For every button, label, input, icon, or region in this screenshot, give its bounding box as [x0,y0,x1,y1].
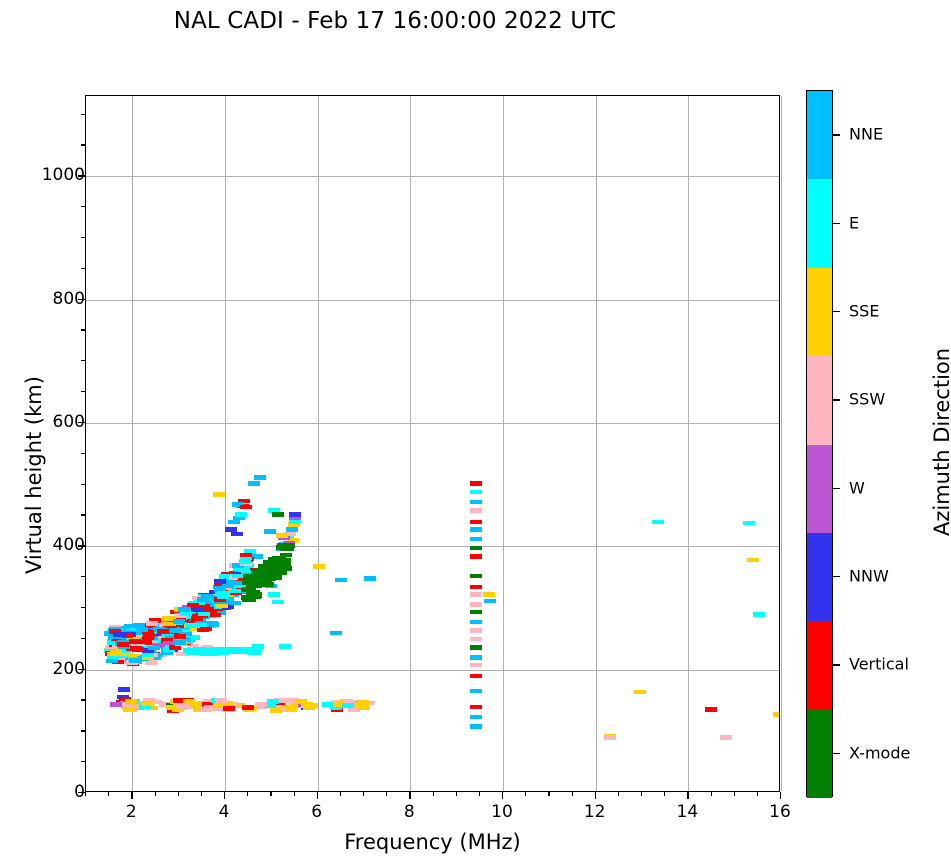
colorbar-tick-label: SSW [849,390,885,409]
x-tick-mark [317,792,318,799]
x-minor-tick [85,792,86,796]
colorbar-tick-label: NNE [849,125,883,144]
data-point [123,707,135,712]
y-tick-mark [78,175,85,176]
data-point [470,574,482,579]
data-point [470,520,482,525]
data-point [200,707,212,712]
colorbar-segment-vertical [807,621,832,709]
x-tick-label: 12 [565,802,625,822]
colorbar-tick-label: SSE [849,301,879,320]
data-point [604,735,616,740]
data-point [720,735,732,740]
data-point [141,701,153,706]
data-point [215,698,227,703]
data-point [246,594,260,599]
data-point [268,592,280,597]
colorbar-segment-ssw [807,356,832,444]
data-point [223,706,235,711]
data-point [277,543,291,548]
data-point [247,650,261,655]
colorbar-segment-w [807,445,832,533]
data-point [174,640,186,645]
data-point [470,674,482,679]
x-tick-label: 10 [472,802,532,822]
x-minor-tick [525,792,526,796]
x-tick-mark [687,792,688,799]
y-minor-tick [81,268,85,269]
data-point [286,527,298,532]
data-point [470,715,482,720]
data-point [289,520,301,525]
x-minor-tick [641,792,642,796]
data-point [209,613,221,618]
y-minor-tick [81,607,85,608]
x-minor-tick [757,792,758,796]
data-point [177,704,189,709]
data-point [249,581,263,586]
x-minor-tick [548,792,549,796]
colorbar-segment-nne [807,91,832,179]
y-minor-tick [81,730,85,731]
x-minor-tick [363,792,364,796]
x-tick-label: 16 [750,802,810,822]
colorbar-tick-label: E [849,213,859,232]
data-point [163,641,175,646]
data-point [634,690,646,695]
x-minor-tick [618,792,619,796]
x-tick-mark [502,792,503,799]
data-point [214,579,226,584]
x-minor-tick [734,792,735,796]
data-point [243,574,257,579]
y-minor-tick [81,453,85,454]
data-point [255,702,267,707]
y-minor-tick [81,329,85,330]
page-title: NAL CADI - Feb 17 16:00:00 2022 UTC [0,8,790,34]
data-point [470,620,482,625]
data-point [470,655,482,660]
data-point [313,564,325,569]
data-point [228,520,240,525]
data-point [330,631,342,636]
x-minor-tick [201,792,202,796]
data-point [470,637,482,642]
data-point [238,568,250,573]
data-point [470,500,482,505]
x-tick-mark [131,792,132,799]
x-tick-mark [595,792,596,799]
data-point [743,521,755,526]
colorbar-tick-mark [833,134,840,135]
colorbar-tick-mark [833,664,840,665]
data-point [235,512,247,517]
colorbar-segment-sse [807,268,832,356]
data-point [652,520,664,525]
data-point [229,601,241,606]
data-point [264,529,276,534]
data-point [142,653,154,658]
x-minor-tick [711,792,712,796]
data-point [303,705,315,710]
y-minor-tick [81,206,85,207]
data-point [358,705,370,710]
data-point [190,702,202,707]
x-minor-tick [386,792,387,796]
y-minor-tick [81,699,85,700]
data-point [254,475,266,480]
data-point [470,610,482,615]
colorbar-tick-mark [833,311,840,312]
x-tick-mark [224,792,225,799]
data-point [133,623,145,628]
data-point [484,599,496,604]
y-minor-tick [81,514,85,515]
data-point [240,553,252,558]
data-point [253,569,267,574]
data-point [231,532,243,537]
data-point [470,689,482,694]
x-minor-tick [479,792,480,796]
data-point [148,646,160,651]
data-point [106,659,118,664]
y-minor-tick [81,144,85,145]
x-minor-tick [340,792,341,796]
colorbar-tick-mark [833,488,840,489]
y-tick-mark [78,299,85,300]
x-tick-label: 4 [194,802,254,822]
colorbar-tick-label: NNW [849,567,889,586]
data-point [267,699,279,704]
data-point [174,634,186,639]
data-point [270,708,282,713]
data-point [470,645,482,650]
data-point [278,566,292,571]
data-point [285,707,297,712]
data-point [747,558,759,563]
x-minor-tick [270,792,271,796]
colorbar [806,90,833,797]
grid-line-vertical [781,96,782,791]
data-point [470,554,482,559]
data-point [342,703,354,708]
data-point [240,505,252,510]
y-axis-label: Virtual height (km) [22,376,46,574]
data-point [117,642,129,647]
data-point [169,645,181,650]
data-point [229,589,241,594]
x-tick-mark [780,792,781,799]
data-point [753,612,765,617]
data-point [213,492,225,497]
x-tick-mark [409,792,410,799]
data-point [272,512,284,517]
y-tick-mark [78,669,85,670]
data-point [145,660,157,665]
data-point [129,639,141,644]
x-minor-tick [247,792,248,796]
data-point [470,705,482,710]
colorbar-segment-e [807,179,832,267]
data-point [110,702,122,707]
data-point [470,508,482,513]
x-axis-label: Frequency (MHz) [85,830,780,854]
x-tick-label: 6 [287,802,347,822]
data-point [470,537,482,542]
colorbar-tick-label: Vertical [849,655,909,674]
data-marks-layer [86,96,779,791]
y-minor-tick [81,114,85,115]
data-point [470,527,482,532]
data-point [470,490,482,495]
data-point [143,633,155,638]
colorbar-tick-mark [833,223,840,224]
x-tick-label: 2 [101,802,161,822]
data-point [217,591,229,596]
x-minor-tick [155,792,156,796]
data-point [773,712,779,717]
data-point [272,600,284,605]
data-point [162,616,174,621]
y-tick-mark [78,792,85,793]
y-minor-tick [81,484,85,485]
plot-area [85,95,780,792]
data-point [107,652,119,657]
data-point [470,663,482,668]
y-minor-tick [81,237,85,238]
x-tick-label: 8 [379,802,439,822]
data-point [130,646,142,651]
data-point [470,628,482,633]
colorbar-label: Azimuth Direction [930,347,951,535]
data-point [157,629,169,634]
y-minor-tick [81,360,85,361]
data-point [225,527,237,532]
data-point [136,627,148,632]
data-point [118,687,130,692]
x-minor-tick [433,792,434,796]
data-point [198,612,210,617]
x-tick-label: 14 [657,802,717,822]
y-minor-tick [81,761,85,762]
x-minor-tick [294,792,295,796]
data-point [239,559,251,564]
colorbar-tick-label: X-mode [849,743,910,762]
colorbar-tick-mark [833,399,840,400]
data-point [289,512,301,517]
data-point [483,592,495,597]
data-point [125,699,137,704]
data-point [129,658,141,663]
data-point [276,533,288,538]
data-point [470,546,482,551]
y-tick-mark [78,545,85,546]
data-point [705,707,717,712]
data-point [335,578,347,583]
x-axis: 246810121416 [85,792,780,832]
data-point [242,705,254,710]
data-point [470,481,482,486]
data-point [197,597,209,602]
data-point [470,724,482,729]
ionogram-figure: NAL CADI - Feb 17 16:00:00 2022 UTC 0200… [0,0,951,856]
data-point [470,585,482,590]
colorbar-tick-label: W [849,478,865,497]
x-minor-tick [178,792,179,796]
data-point [191,616,203,621]
data-point [197,628,209,633]
y-minor-tick [81,638,85,639]
data-point [146,621,158,626]
data-point [470,602,482,607]
x-minor-tick [456,792,457,796]
data-point [113,632,125,637]
y-tick-mark [78,422,85,423]
data-point [248,481,260,486]
data-point [268,572,282,577]
y-minor-tick [81,391,85,392]
colorbar-segment-nnw [807,533,832,621]
data-point [364,576,376,581]
colorbar-tick-mark [833,576,840,577]
x-minor-tick [664,792,665,796]
data-point [470,592,482,597]
data-point [140,640,152,645]
data-point [173,619,185,624]
data-point [214,586,226,591]
colorbar-tick-mark [833,753,840,754]
data-point [270,561,284,566]
colorbar-segment-x-mode [807,710,832,798]
y-minor-tick [81,576,85,577]
data-point [279,644,291,649]
x-minor-tick [572,792,573,796]
x-minor-tick [108,792,109,796]
data-point [216,604,228,609]
